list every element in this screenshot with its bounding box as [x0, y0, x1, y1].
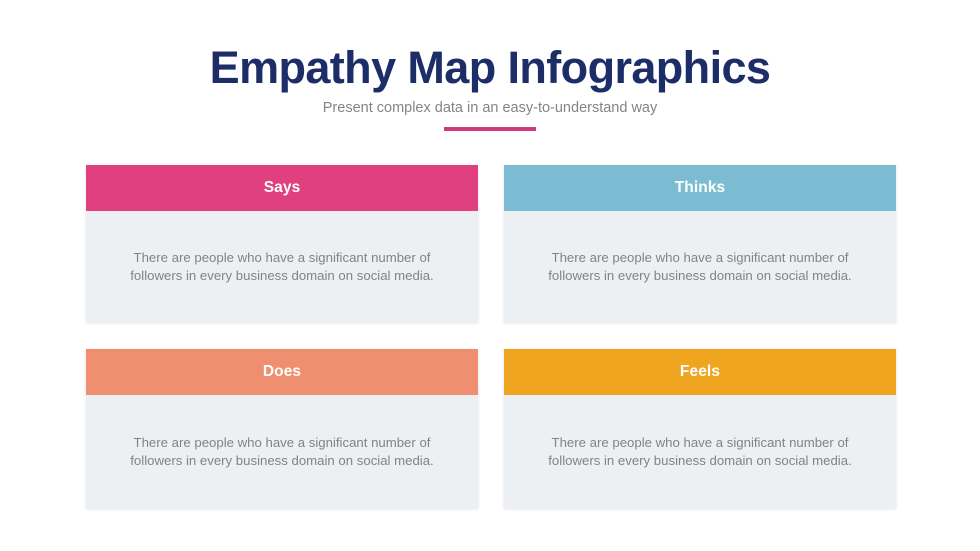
empathy-card-says[interactable]: Says There are people who have a signifi…	[86, 165, 478, 322]
card-header-thinks: Thinks	[504, 165, 896, 211]
card-body-text-does: There are people who have a significant …	[112, 434, 452, 469]
page-title: Empathy Map Infographics	[0, 40, 980, 96]
card-body-thinks: There are people who have a significant …	[504, 211, 896, 322]
card-body-text-feels: There are people who have a significant …	[530, 434, 870, 469]
empathy-card-does[interactable]: Does There are people who have a signifi…	[86, 349, 478, 508]
card-body-does: There are people who have a significant …	[86, 395, 478, 508]
page-subtitle: Present complex data in an easy-to-under…	[0, 98, 980, 118]
empathy-card-thinks[interactable]: Thinks There are people who have a signi…	[504, 165, 896, 322]
card-header-does: Does	[86, 349, 478, 395]
card-body-says: There are people who have a significant …	[86, 211, 478, 322]
infographic-slide: Empathy Map Infographics Present complex…	[0, 0, 980, 551]
card-body-text-thinks: There are people who have a significant …	[530, 249, 870, 284]
card-header-feels: Feels	[504, 349, 896, 395]
card-body-text-says: There are people who have a significant …	[112, 249, 452, 284]
empathy-card-feels[interactable]: Feels There are people who have a signif…	[504, 349, 896, 508]
empathy-map-card-grid: Says There are people who have a signifi…	[86, 165, 895, 508]
title-accent-bar	[444, 127, 536, 131]
card-body-feels: There are people who have a significant …	[504, 395, 896, 508]
card-header-says: Says	[86, 165, 478, 211]
